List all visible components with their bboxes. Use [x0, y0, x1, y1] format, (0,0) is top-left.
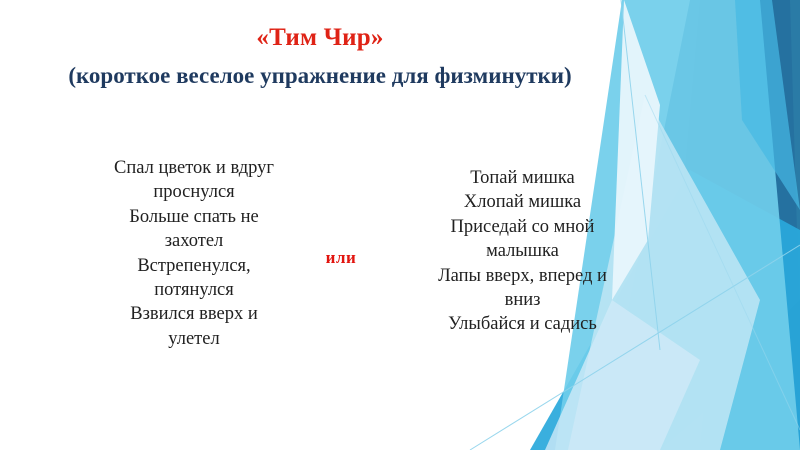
title-block: «Тим Чир» (короткое веселое упражнение д… [0, 22, 640, 91]
verse-line: Хлопай мишка [410, 190, 635, 214]
verse-right-block: Топай мишка Хлопай мишка Приседай со мно… [410, 166, 635, 337]
verse-line: Встрепенулся, [78, 254, 310, 278]
verse-line: захотел [78, 229, 310, 253]
verse-line: потянулся [78, 278, 310, 302]
verse-line: Спал цветок и вдруг [78, 156, 310, 180]
verse-line: Улыбайся и садись [410, 312, 635, 336]
page-subtitle: (короткое веселое упражнение для физмину… [0, 61, 640, 91]
presentation-slide: «Тим Чир» (короткое веселое упражнение д… [0, 0, 800, 450]
verse-left-block: Спал цветок и вдруг проснулся Больше спа… [78, 156, 310, 351]
verse-line: Лапы вверх, вперед и [410, 264, 635, 288]
verse-line: вниз [410, 288, 635, 312]
verse-line: Топай мишка [410, 166, 635, 190]
verse-line: Приседай со мной [410, 215, 635, 239]
verse-line: проснулся [78, 180, 310, 204]
verse-line: Взвился вверх и [78, 302, 310, 326]
verse-line: малышка [410, 239, 635, 263]
page-title: «Тим Чир» [0, 22, 640, 53]
verse-line: Больше спать не [78, 205, 310, 229]
slide-content: «Тим Чир» (короткое веселое упражнение д… [0, 0, 800, 450]
verse-line: улетел [78, 327, 310, 351]
conjunction-or: или [296, 248, 386, 268]
